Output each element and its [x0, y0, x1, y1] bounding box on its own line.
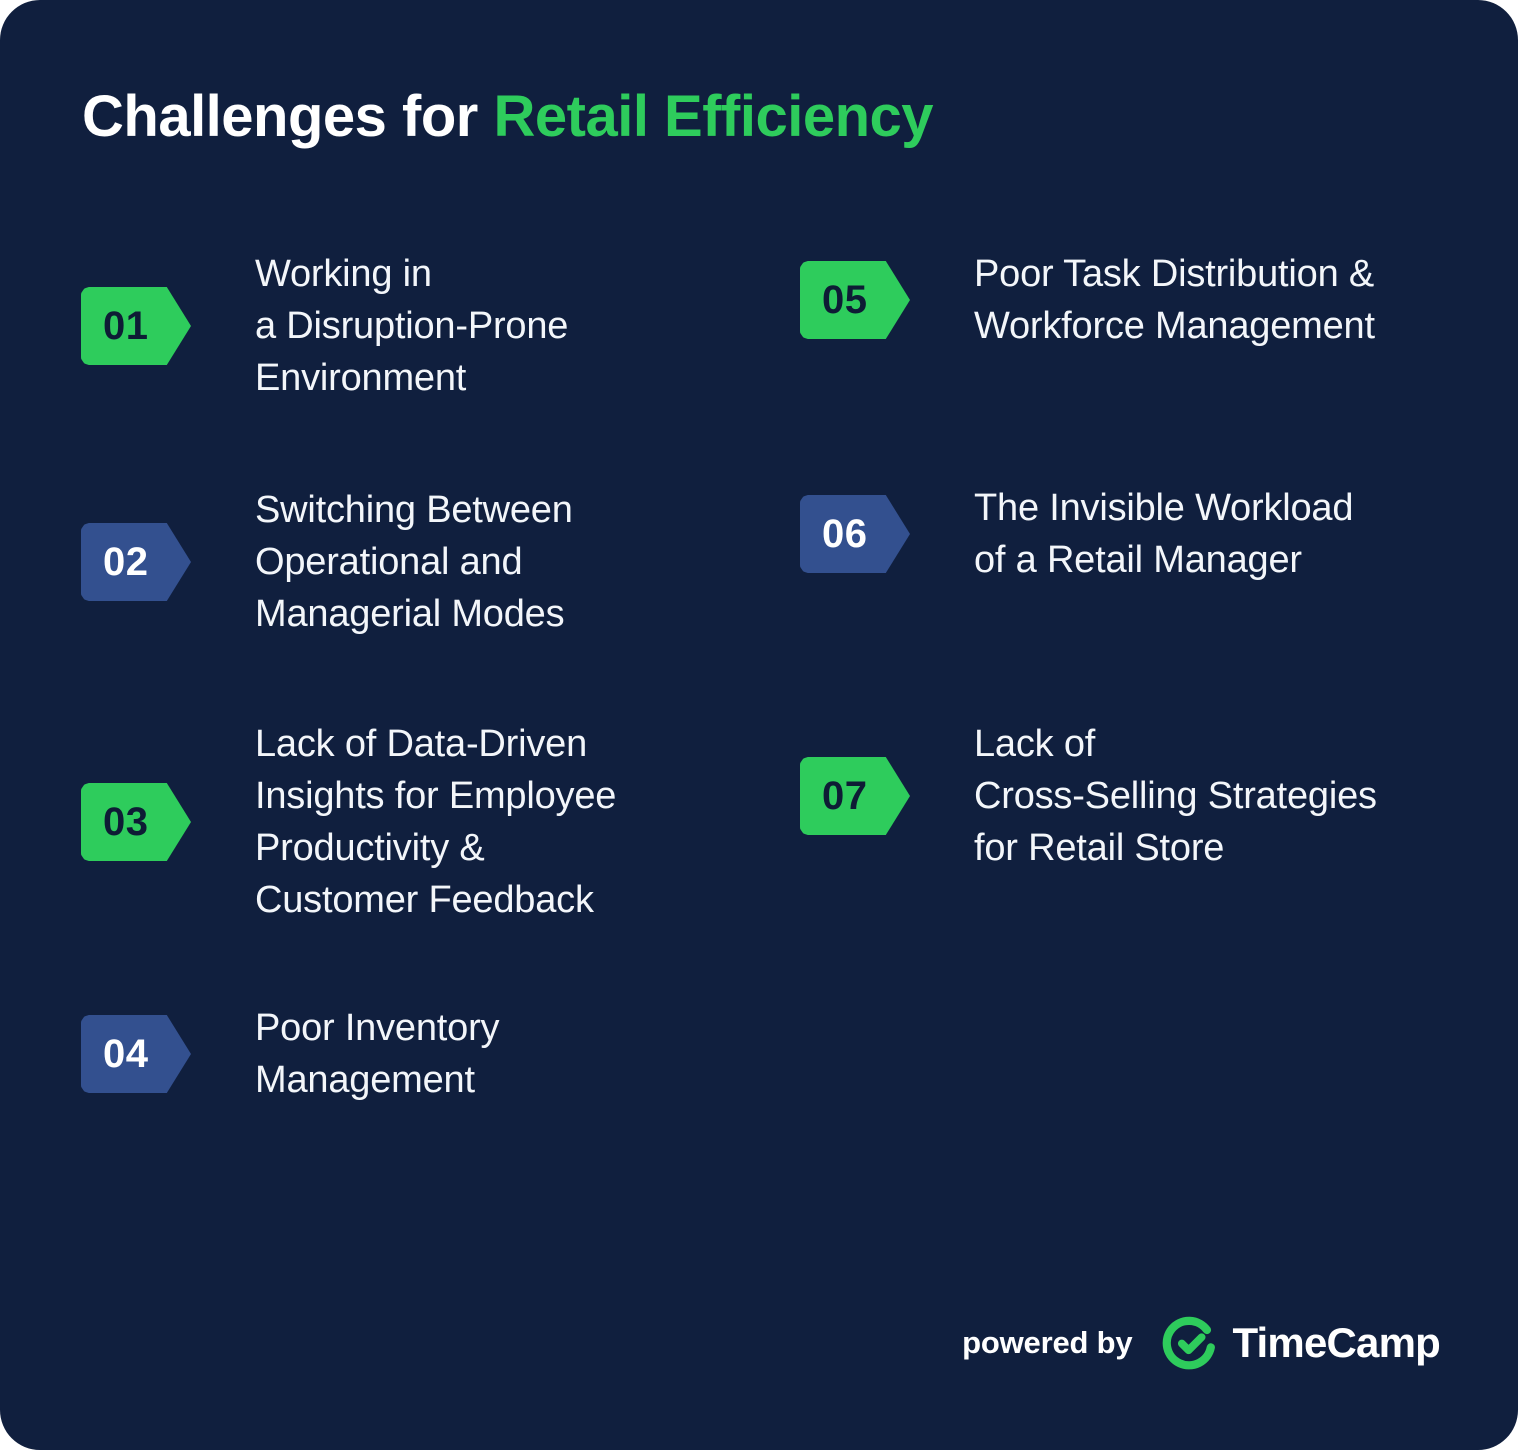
brand-name: TimeCamp [1232, 1319, 1440, 1367]
item-number-badge: 07 [800, 757, 910, 835]
item-label-line: a Disruption-Prone [255, 300, 568, 352]
item-number: 03 [103, 800, 149, 845]
item-number-badge: 05 [800, 261, 910, 339]
item-number-badge: 03 [81, 783, 191, 861]
timecamp-check-circle-icon [1162, 1314, 1220, 1372]
item-number-badge: 04 [81, 1015, 191, 1093]
challenges-column-right: 05 Poor Task Distribution & Workforce Ma… [800, 248, 1500, 934]
list-item: 02 Switching Between Operational and Man… [81, 484, 781, 640]
list-item: 01 Working in a Disruption-Prone Environ… [81, 248, 781, 404]
item-number: 05 [822, 278, 868, 323]
item-label-line: Lack of [974, 718, 1377, 770]
item-label-line: The Invisible Workload [974, 482, 1353, 534]
item-number: 02 [103, 540, 149, 585]
item-label-line: Customer Feedback [255, 874, 616, 926]
item-label-line: Lack of Data-Driven [255, 718, 616, 770]
item-number: 04 [103, 1032, 149, 1077]
item-label: The Invisible Workload of a Retail Manag… [974, 482, 1353, 586]
item-label-line: Productivity & [255, 822, 616, 874]
list-item: 04 Poor Inventory Management [81, 1002, 781, 1106]
item-label-line: Insights for Employee [255, 770, 616, 822]
item-label-line: Cross-Selling Strategies [974, 770, 1377, 822]
item-label-line: Working in [255, 248, 568, 300]
page-title: Challenges for Retail Efficiency [82, 84, 933, 151]
page-title-accent: Retail Efficiency [493, 84, 933, 149]
item-label: Working in a Disruption-Prone Environmen… [255, 248, 568, 404]
footer-branding: powered by TimeCamp [962, 1314, 1440, 1372]
item-label-line: Managerial Modes [255, 588, 573, 640]
item-label: Poor Inventory Management [255, 1002, 499, 1106]
item-number: 07 [822, 774, 868, 819]
item-label: Lack of Data-Driven Insights for Employe… [255, 718, 616, 926]
item-number-badge: 01 [81, 287, 191, 365]
item-label-line: Poor Task Distribution & [974, 248, 1375, 300]
item-label-line: for Retail Store [974, 822, 1377, 874]
item-label-line: of a Retail Manager [974, 534, 1353, 586]
item-label: Poor Task Distribution & Workforce Manag… [974, 248, 1375, 352]
item-label-line: Operational and [255, 536, 573, 588]
list-item: 03 Lack of Data-Driven Insights for Empl… [81, 718, 781, 926]
item-label-line: Poor Inventory [255, 1002, 499, 1054]
list-item: 07 Lack of Cross-Selling Strategies for … [800, 718, 1500, 874]
item-label-line: Workforce Management [974, 300, 1375, 352]
list-item: 05 Poor Task Distribution & Workforce Ma… [800, 248, 1500, 352]
item-label-line: Switching Between [255, 484, 573, 536]
item-number: 01 [103, 304, 149, 349]
item-number-badge: 06 [800, 495, 910, 573]
powered-by-label: powered by [962, 1325, 1132, 1361]
item-label-line: Environment [255, 352, 568, 404]
item-number-badge: 02 [81, 523, 191, 601]
list-item: 06 The Invisible Workload of a Retail Ma… [800, 482, 1500, 586]
item-label: Lack of Cross-Selling Strategies for Ret… [974, 718, 1377, 874]
item-label-line: Management [255, 1054, 499, 1106]
item-number: 06 [822, 512, 868, 557]
infographic-card: Challenges for Retail Efficiency 01 Work… [0, 0, 1518, 1450]
page-title-lead: Challenges for [82, 84, 493, 149]
challenges-column-left: 01 Working in a Disruption-Prone Environ… [81, 248, 781, 1166]
item-label: Switching Between Operational and Manage… [255, 484, 573, 640]
